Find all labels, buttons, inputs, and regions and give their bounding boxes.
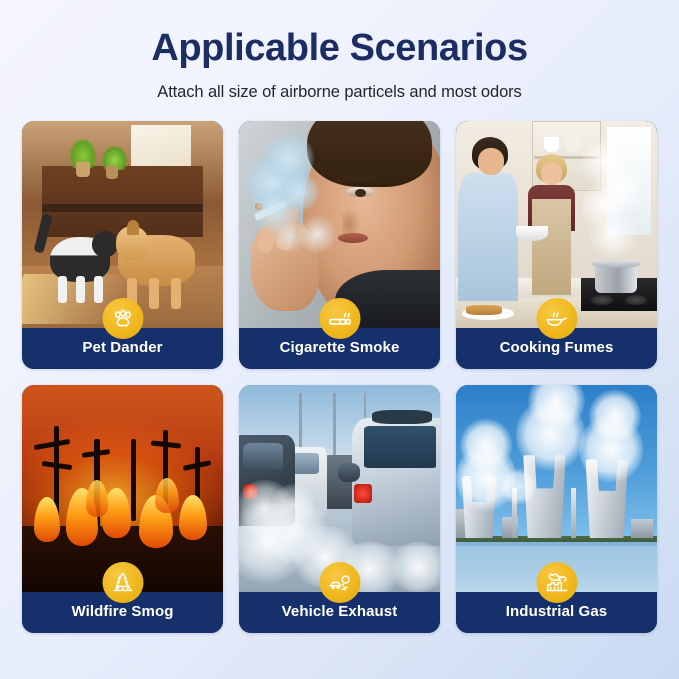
card-label: Cigarette Smoke [280,340,400,356]
scenario-card-pet-dander[interactable]: Pet Dander [22,121,223,369]
frying-pan-steam-icon [536,298,577,339]
scene-traffic-jam-with-exhaust [239,385,440,592]
card-label: Industrial Gas [506,604,607,620]
scenario-card-cigarette-smoke[interactable]: Cigarette Smoke [239,121,440,369]
paw-print-icon [102,298,143,339]
card-image-pet-dander [22,121,223,328]
page-subtitle: Attach all size of airborne particels an… [0,83,679,102]
scenario-card-vehicle-exhaust[interactable]: Vehicle Exhaust [239,385,440,633]
card-image-vehicle-exhaust [239,385,440,592]
card-label: Pet Dander [82,340,162,356]
scene-man-smoking-cigarette [239,121,440,328]
scene-couple-in-kitchen-with-steaming-pot [456,121,657,328]
scene-forest-wildfire [22,385,223,592]
factory-smoke-icon [536,562,577,603]
scenario-card-industrial-gas[interactable]: Industrial Gas [456,385,657,633]
car-exhaust-icon [319,562,360,603]
card-image-cigarette-smoke [239,121,440,328]
card-image-cooking-fumes [456,121,657,328]
scenarios-grid: Pet Dander [22,121,657,633]
page-header: Applicable Scenarios Attach all size of … [0,0,679,102]
burning-trees-icon [102,562,143,603]
scenario-card-wildfire-smog[interactable]: Wildfire Smog [22,385,223,633]
card-label: Vehicle Exhaust [282,604,398,620]
card-label: Wildfire Smog [71,604,173,620]
applicable-scenarios-page: Applicable Scenarios Attach all size of … [0,0,679,679]
scene-cat-and-dog-in-living-room [22,121,223,328]
card-image-industrial-gas [456,385,657,592]
card-image-wildfire-smog [22,385,223,592]
cigarette-icon [319,298,360,339]
card-label: Cooking Fumes [500,340,614,356]
scene-power-plant-cooling-towers [456,385,657,592]
scenario-card-cooking-fumes[interactable]: Cooking Fumes [456,121,657,369]
page-title: Applicable Scenarios [0,26,679,71]
